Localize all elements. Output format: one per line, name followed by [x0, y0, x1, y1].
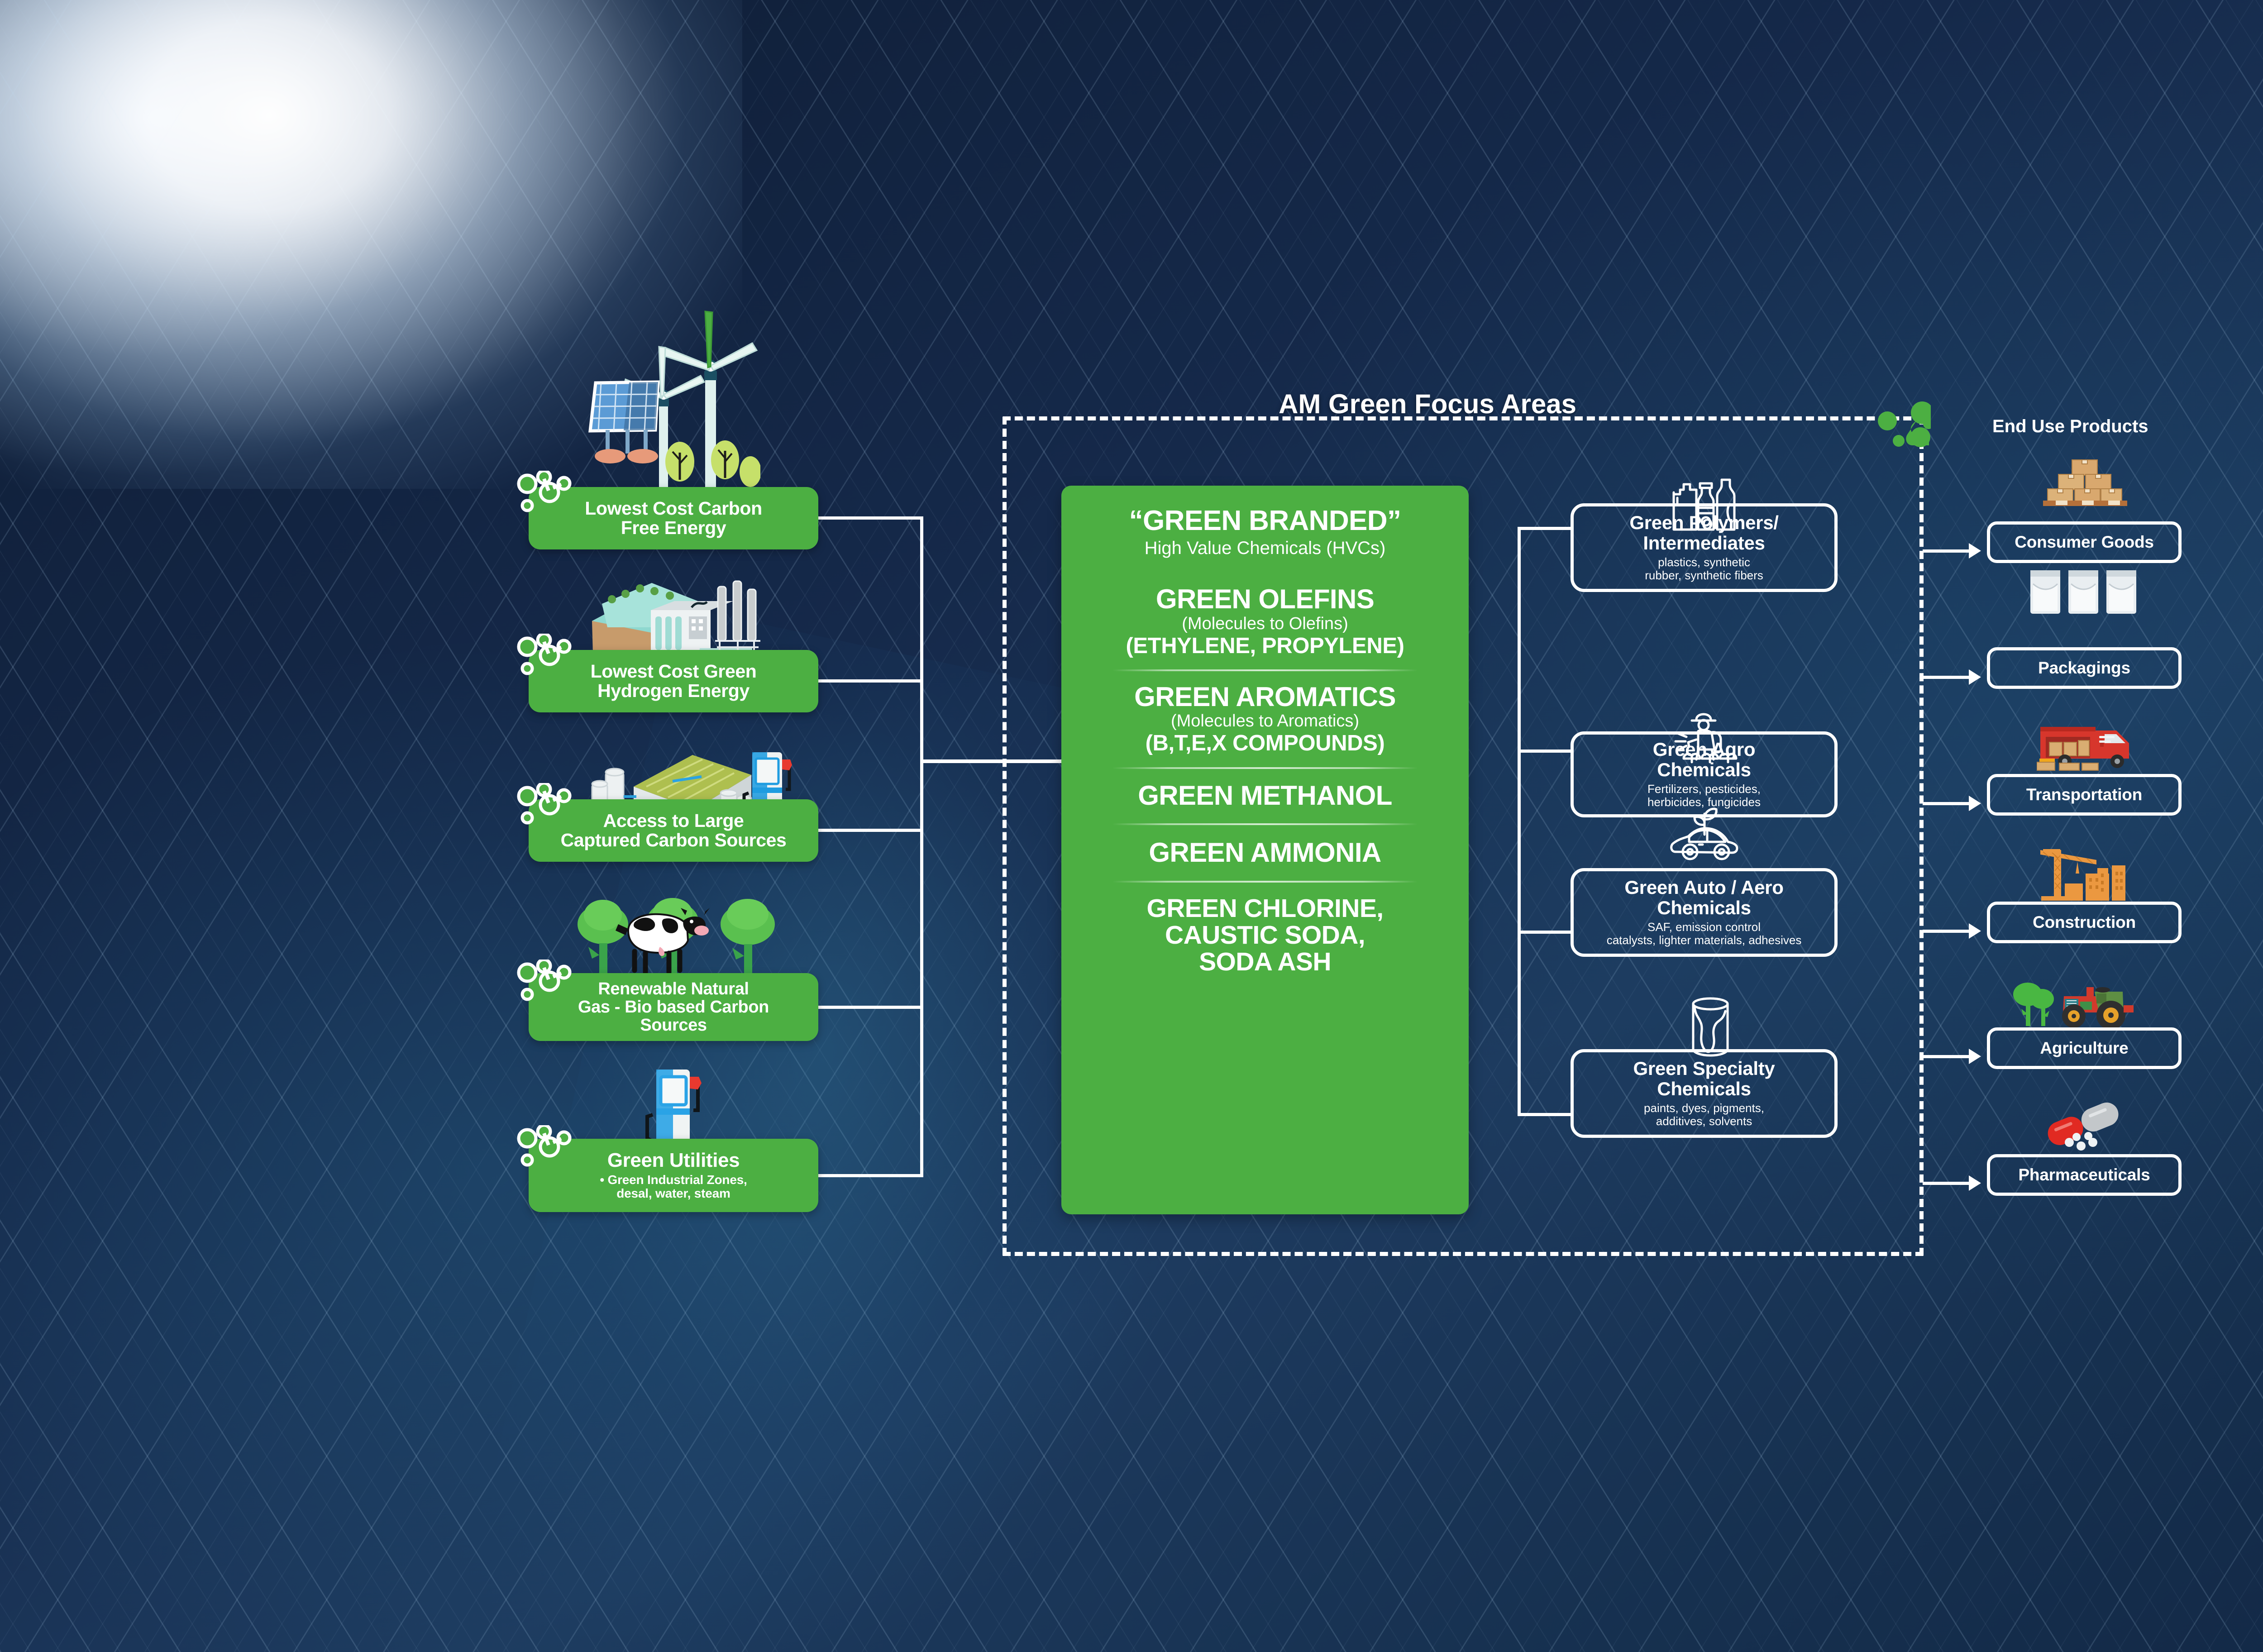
derivative-line2: Chemicals	[1657, 898, 1751, 918]
connector-stub-3	[817, 829, 923, 832]
enduse-label: Agriculture	[2040, 1039, 2128, 1058]
pill-capsules-illustration	[2041, 1095, 2132, 1154]
derivative-line2: Chemicals	[1657, 1079, 1751, 1099]
enduse-arrowhead-1	[1969, 543, 1981, 559]
enduse-card-construction[interactable]: Construction	[1987, 902, 2182, 943]
item-title: GREEN CHLORINE,	[1069, 895, 1461, 922]
solar-wind-energy-illustration	[575, 299, 760, 493]
item-note: (Molecules to Olefins)	[1069, 615, 1461, 634]
enduse-card-packagings[interactable]: Packagings	[1987, 647, 2182, 689]
derivative-stub-3	[1518, 931, 1572, 934]
connector-stub-2	[817, 679, 923, 683]
center-divider	[1112, 767, 1418, 769]
input-sub2: desal, water, steam	[616, 1187, 730, 1200]
connector-spine-left	[920, 516, 923, 1177]
input-line1: Lowest Cost Carbon	[585, 499, 762, 518]
crane-buildings-illustration	[2032, 846, 2132, 905]
stacked-cartons-illustration	[2037, 457, 2132, 507]
enduse-arrowhead-6	[1969, 1175, 1981, 1191]
derivative-sub1: plastics, synthetic	[1658, 556, 1750, 569]
enduse-arrow-line-6	[1923, 1182, 1972, 1185]
input-line1: Green Utilities	[607, 1150, 740, 1171]
center-item-green-methanol: GREEN METHANOL	[1069, 782, 1461, 810]
item-note: (Molecules to Aromatics)	[1069, 712, 1461, 731]
center-subheading: High Value Chemicals (HVCs)	[1069, 538, 1461, 558]
derivative-line1: Green Auto / Aero	[1624, 878, 1783, 898]
connector-stub-1	[817, 516, 923, 520]
item-detail: (ETHYLENE, PROPYLENE)	[1069, 635, 1461, 658]
derivative-sub2: herbicides, fungicides	[1647, 796, 1761, 809]
tractor-trees-illustration	[2010, 971, 2136, 1034]
derivative-card-green-specialty[interactable]: Green Specialty Chemicals paints, dyes, …	[1571, 1049, 1838, 1138]
center-item-green-aromatics: GREEN AROMATICS (Molecules to Aromatics)…	[1069, 683, 1461, 755]
enduse-arrow-line-3	[1923, 802, 1972, 805]
input-card-renewable-natural-gas[interactable]: Renewable Natural Gas - Bio based Carbon…	[529, 973, 818, 1041]
center-item-green-olefins: GREEN OLEFINS (Molecules to Olefins) (ET…	[1069, 585, 1461, 658]
item-title: GREEN OLEFINS	[1069, 585, 1461, 613]
derivative-sub1: SAF, emission control	[1647, 921, 1761, 934]
derivative-card-green-auto-aero[interactable]: Green Auto / Aero Chemicals SAF, emissio…	[1571, 868, 1838, 957]
input-line2: Gas - Bio based Carbon	[578, 998, 769, 1016]
center-heading: “GREEN BRANDED”	[1069, 506, 1461, 535]
derivative-sub2: additives, solvents	[1656, 1115, 1752, 1128]
enduse-card-agriculture[interactable]: Agriculture	[1987, 1027, 2182, 1069]
cow-trees-biogas-illustration	[571, 887, 788, 987]
item-title3: SODA ASH	[1069, 949, 1461, 975]
derivative-spine	[1518, 527, 1521, 1116]
input-line1: Access to Large	[603, 811, 744, 831]
item-title: GREEN METHANOL	[1069, 782, 1461, 810]
enduse-label: Consumer Goods	[2015, 533, 2154, 552]
derivative-line2: Chemicals	[1657, 760, 1751, 780]
enduse-card-transportation[interactable]: Transportation	[1987, 774, 2182, 816]
derivative-sub1: paints, dyes, pigments,	[1644, 1102, 1764, 1115]
enduse-arrowhead-5	[1969, 1049, 1981, 1064]
input-sub1: • Green Industrial Zones,	[600, 1173, 747, 1187]
derivative-stub-1	[1518, 527, 1572, 530]
background-glow	[0, 0, 742, 489]
input-line1: Renewable Natural	[598, 980, 749, 998]
enduse-arrowhead-3	[1969, 796, 1981, 811]
delivery-truck-illustration	[2037, 720, 2136, 774]
input-card-green-utilities[interactable]: Green Utilities • Green Industrial Zones…	[529, 1139, 818, 1212]
center-panel-green-branded[interactable]: “GREEN BRANDED” High Value Chemicals (HV…	[1061, 486, 1469, 1214]
center-item-green-chlor-alkali: GREEN CHLORINE, CAUSTIC SODA, SODA ASH	[1069, 895, 1461, 976]
derivative-card-green-polymers[interactable]: Green Polymers/ Intermediates plastics, …	[1571, 503, 1838, 592]
input-card-captured-carbon[interactable]: Access to Large Captured Carbon Sources	[529, 799, 818, 862]
center-divider	[1112, 823, 1418, 825]
item-title2: CAUSTIC SODA,	[1069, 922, 1461, 949]
center-panel-heading-block: “GREEN BRANDED” High Value Chemicals (HV…	[1069, 506, 1461, 558]
derivative-sub2: rubber, synthetic fibers	[1645, 569, 1763, 582]
enduse-card-pharmaceuticals[interactable]: Pharmaceuticals	[1987, 1154, 2182, 1196]
enduse-label: Construction	[2033, 913, 2136, 932]
item-title: GREEN AROMATICS	[1069, 683, 1461, 711]
enduse-label: Pharmaceuticals	[2018, 1165, 2150, 1184]
center-divider	[1112, 669, 1418, 671]
end-use-products-title: End Use Products	[1992, 416, 2148, 437]
derivative-stub-2	[1518, 750, 1572, 753]
item-detail: (B,T,E,X COMPOUNDS)	[1069, 732, 1461, 755]
enduse-arrow-line-4	[1923, 930, 1972, 933]
input-line2: Captured Carbon Sources	[561, 831, 787, 850]
center-divider	[1112, 881, 1418, 883]
enduse-arrowhead-2	[1969, 669, 1981, 685]
input-line3: Sources	[640, 1016, 707, 1034]
enduse-arrow-line-1	[1923, 549, 1972, 553]
enduse-card-consumer-goods[interactable]: Consumer Goods	[1987, 521, 2182, 563]
connector-stub-4	[817, 1006, 923, 1009]
enduse-arrowhead-4	[1969, 923, 1981, 939]
infographic-canvas: AM Green Focus Areas	[0, 0, 2263, 1652]
derivative-line1: Green Agro	[1653, 740, 1755, 760]
item-title: GREEN AMMONIA	[1069, 839, 1461, 867]
input-line1: Lowest Cost Green	[591, 662, 757, 681]
derivative-line1: Green Polymers/	[1629, 513, 1778, 533]
center-item-green-ammonia: GREEN AMMONIA	[1069, 839, 1461, 867]
focus-area-title: AM Green Focus Areas	[1279, 388, 1576, 420]
enduse-label: Transportation	[2026, 785, 2142, 804]
input-line2: Hydrogen Energy	[597, 681, 750, 701]
input-card-green-hydrogen[interactable]: Lowest Cost Green Hydrogen Energy	[529, 650, 818, 712]
pouch-packets-illustration	[2027, 566, 2140, 616]
derivative-stub-4	[1518, 1113, 1572, 1116]
input-line2: Free Energy	[621, 518, 726, 538]
derivative-line2: Intermediates	[1643, 533, 1765, 554]
derivative-line1: Green Specialty	[1633, 1059, 1775, 1079]
enduse-label: Packagings	[2038, 659, 2130, 678]
derivative-sub1: Fertilizers, pesticides,	[1647, 783, 1761, 796]
connector-stub-5	[817, 1174, 923, 1177]
derivative-card-green-agro[interactable]: Green Agro Chemicals Fertilizers, pestic…	[1571, 731, 1838, 817]
enduse-arrow-line-2	[1923, 676, 1972, 679]
enduse-arrow-line-5	[1923, 1055, 1972, 1058]
derivative-sub2: catalysts, lighter materials, adhesives	[1607, 934, 1802, 947]
input-card-carbon-free-energy[interactable]: Lowest Cost Carbon Free Energy	[529, 487, 818, 549]
